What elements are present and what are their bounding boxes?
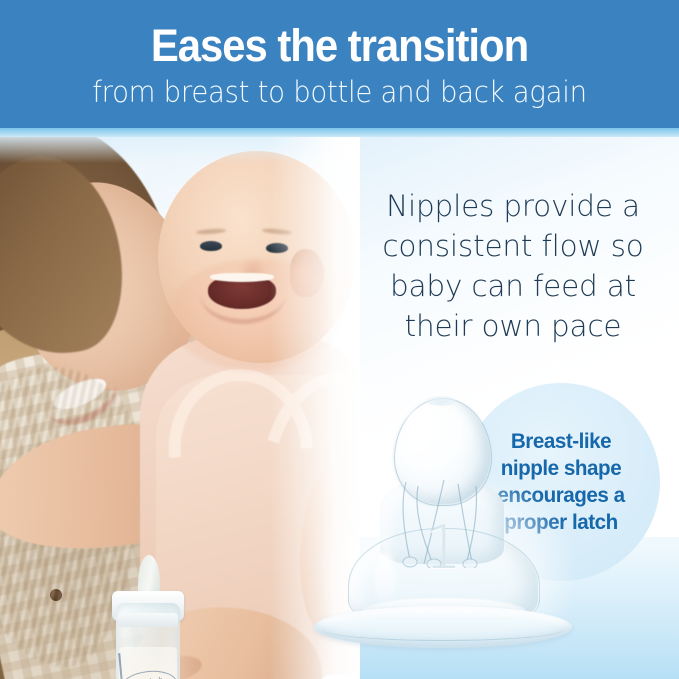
nipple-highlight-lower [374, 552, 396, 606]
header-text-group: Eases the transition from breast to bott… [0, 0, 679, 110]
page-title: Eases the transition [24, 0, 655, 72]
flow-level-number: 1 [408, 518, 478, 578]
product-nipple: 1 [300, 392, 590, 650]
nipple-highlight-upper [404, 410, 430, 472]
body-copy-line-2: consistent flow so [355, 226, 671, 266]
nipple-flange-lip [322, 618, 564, 641]
body-copy-line-1: Nipples provide a [355, 186, 671, 226]
product-infographic: Eases the transition from breast to bott… [0, 0, 679, 679]
bottle-threaded-ring [118, 613, 178, 627]
nipple-tip [426, 396, 456, 406]
body-copy: Nipples provide a consistent flow so bab… [355, 186, 671, 346]
body-copy-line-4: their own pace [355, 306, 671, 346]
body-copy-line-3: baby can feed at [355, 266, 671, 306]
baby-upper-gum [210, 273, 274, 282]
header-banner: Eases the transition from breast to bott… [0, 0, 679, 128]
page-subtitle: from breast to bottle and back again [17, 72, 662, 110]
baby-bottle: Lansinoh [112, 555, 184, 679]
baby-eye-left [200, 241, 222, 251]
header-accent-strip [0, 128, 679, 137]
